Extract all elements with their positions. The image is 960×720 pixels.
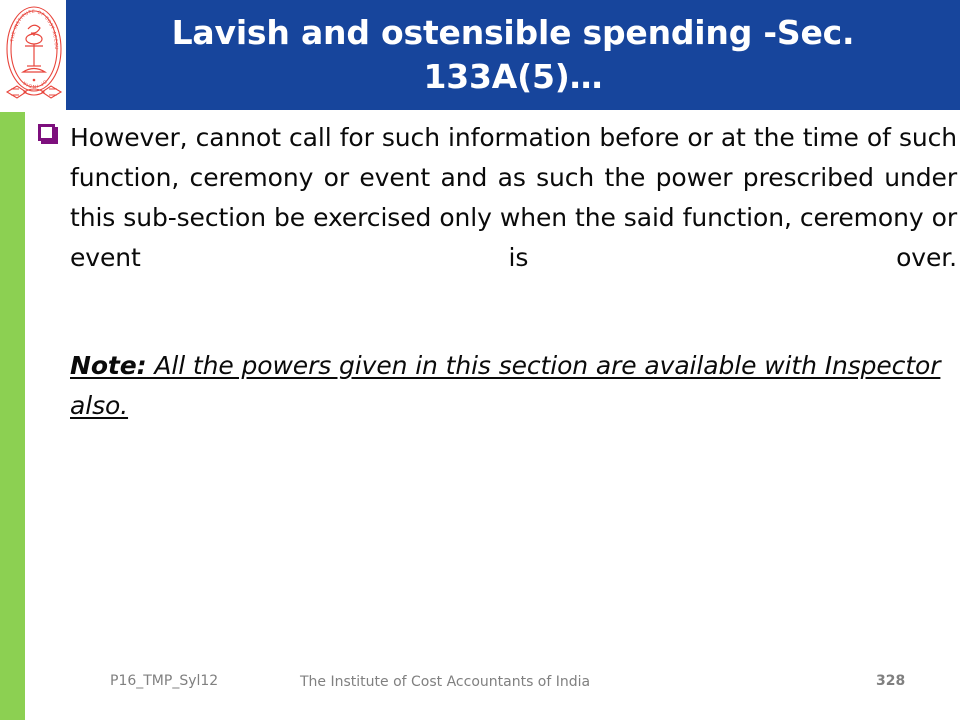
footer-page-number: 328 [876,673,905,689]
note-block: Note: All the powers given in this secti… [36,346,960,426]
bullet-paragraph: However, cannot call for such informatio… [70,118,957,318]
title-bar: Lavish and ostensible spending -Sec. 133… [66,0,960,110]
bullet-item: However, cannot call for such informatio… [36,118,960,318]
slide-footer: P16_TMP_Syl12 The Institute of Cost Acco… [0,673,960,703]
footer-organization-name: The Institute of Cost Accountants of Ind… [300,674,590,690]
page-title: Lavish and ostensible spending -Sec. 133… [66,0,960,110]
square-bullet-icon [38,124,55,141]
note-label: Note: [70,351,147,380]
note-paragraph: Note: All the powers given in this secti… [70,346,957,426]
footer-document-code: P16_TMP_Syl12 [110,673,218,689]
institute-logo: THE INSTITUTE OF COST ACCOUNTANTS OF IND… [3,2,65,108]
slide: Lavish and ostensible spending -Sec. 133… [0,0,960,720]
slide-content: However, cannot call for such informatio… [36,118,960,658]
note-text: All the powers given in this section are… [70,351,940,420]
green-accent-bar [0,112,25,720]
